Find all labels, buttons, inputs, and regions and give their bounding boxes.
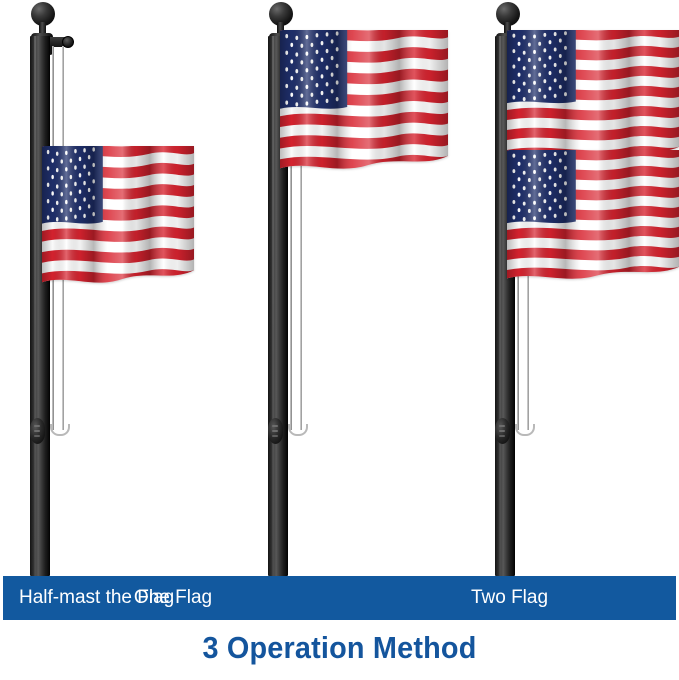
infographic-canvas: Half-mast the Flag One Flag Two Flag 3 O…: [0, 0, 679, 680]
us-flag-graphic: [42, 146, 194, 284]
us-flag-upper: [507, 30, 679, 160]
cleat-hardware: [495, 418, 510, 444]
banner-label-one-flag: One Flag: [3, 576, 343, 620]
banner-label-two-flag: Two Flag: [343, 576, 676, 620]
us-flag-half-mast: [42, 146, 194, 284]
us-flag-graphic: [507, 150, 679, 280]
halyard-loop: [288, 424, 308, 436]
halyard-loop: [515, 424, 535, 436]
panel-half-mast: [0, 0, 226, 576]
flagpole-1: [12, 0, 102, 576]
pole-shaft: [30, 36, 50, 576]
page-title: 3 Operation Method: [24, 630, 655, 666]
us-flag-full-mast: [280, 30, 448, 170]
panel-one-flag: [226, 0, 452, 576]
halyard-loop: [50, 424, 70, 436]
cleat-hardware: [30, 418, 45, 444]
caption-banner: Half-mast the Flag One Flag Two Flag: [3, 576, 676, 620]
panel-two-flag: [453, 0, 679, 576]
us-flag-lower: [507, 150, 679, 280]
us-flag-graphic: [280, 30, 448, 170]
cleat-hardware: [268, 418, 283, 444]
us-flag-graphic: [507, 30, 679, 160]
